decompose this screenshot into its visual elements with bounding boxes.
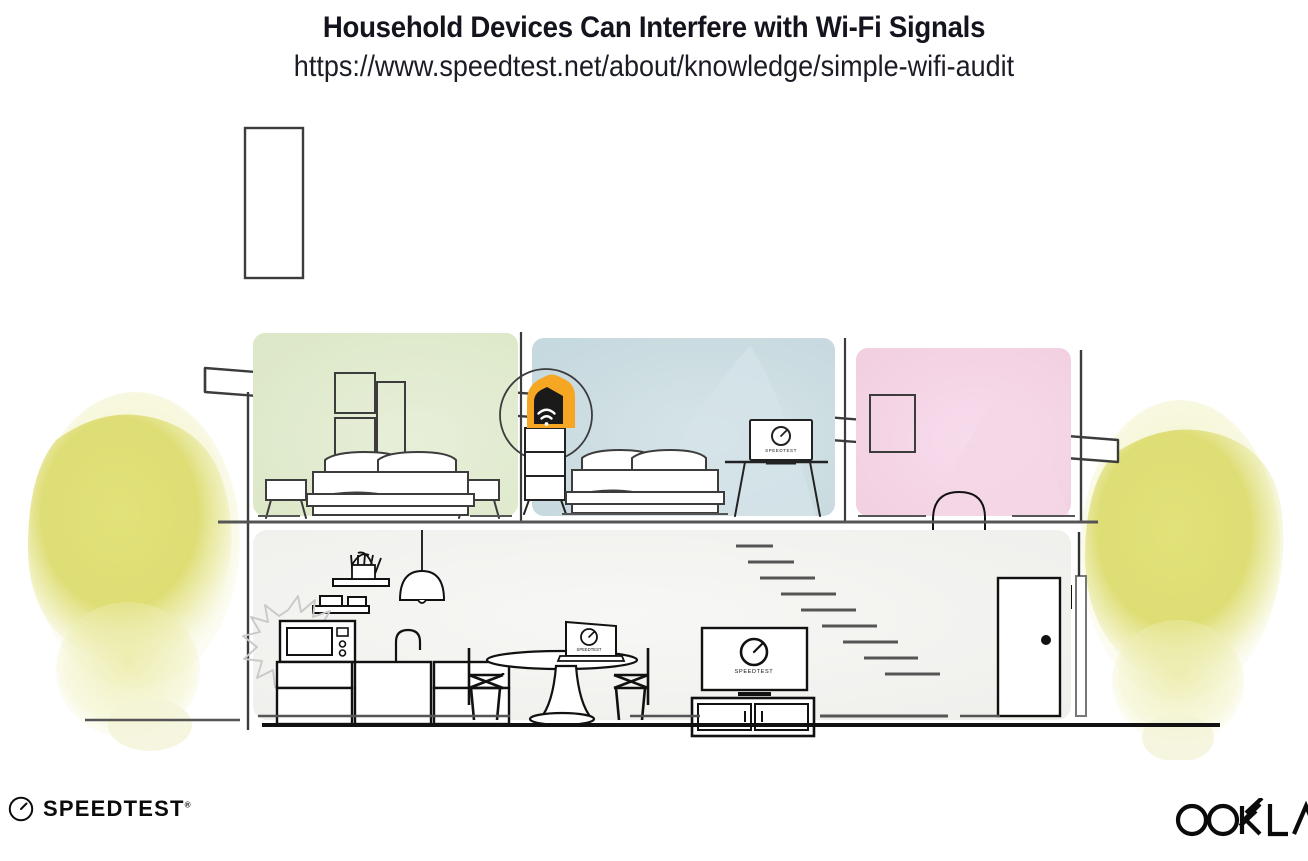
source-url: https://www.speedtest.net/about/knowledg… <box>65 45 1242 84</box>
ookla-logo <box>1170 798 1308 842</box>
door-knob[interactable] <box>1041 635 1051 645</box>
chimney <box>245 128 303 278</box>
room-bedroom-blue: SPEEDTEST <box>500 338 835 516</box>
ookla-brand <box>1170 798 1308 847</box>
house-cutaway-illustration: SPEEDTEST <box>0 110 1308 760</box>
wifi-icon-dot <box>545 422 549 426</box>
monitor-speedtest[interactable]: SPEEDTEST <box>750 420 812 465</box>
speedometer-icon <box>8 796 34 822</box>
speedtest-wordmark-text: SPEEDTEST <box>43 796 185 821</box>
tv-screen-label: SPEEDTEST <box>735 669 774 675</box>
infographic-page: Household Devices Can Interfere with Wi-… <box>0 0 1308 861</box>
sidelight-window <box>1076 576 1086 716</box>
ookla-k-glyph <box>1240 798 1262 834</box>
footer: SPEEDTEST® <box>0 780 1308 861</box>
tree-left <box>28 392 240 751</box>
front-door[interactable] <box>998 578 1060 716</box>
speedtest-brand: SPEEDTEST® <box>8 796 191 822</box>
microwave[interactable] <box>280 621 355 662</box>
header: Household Devices Can Interfere with Wi-… <box>0 0 1308 84</box>
room-bedroom-green <box>253 333 518 518</box>
bed-blue <box>566 450 724 513</box>
page-title: Household Devices Can Interfere with Wi-… <box>52 0 1255 45</box>
media-console <box>692 698 814 736</box>
bed-green <box>307 452 474 515</box>
tv-speedtest[interactable]: SPEEDTEST <box>702 628 807 696</box>
speedtest-wordmark: SPEEDTEST® <box>43 796 191 822</box>
room-lower-floor: SPEEDTEST <box>243 530 1086 736</box>
monitor-screen-label: SPEEDTEST <box>765 448 797 453</box>
speedtest-trademark: ® <box>185 801 191 810</box>
laptop-speedtest[interactable]: SPEEDTEST <box>558 622 624 661</box>
laptop-screen-label: SPEEDTEST <box>577 647 602 652</box>
